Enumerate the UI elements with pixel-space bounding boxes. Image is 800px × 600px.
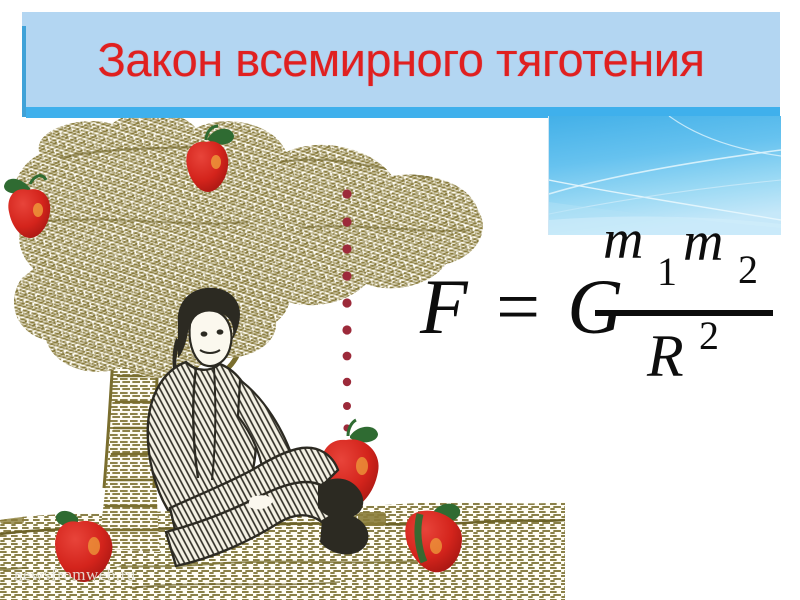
slide-canvas: Закон всемирного тяготения F = G xyxy=(0,0,800,600)
formula-distance-exponent: 2 xyxy=(699,312,719,359)
page-title: Закон всемирного тяготения xyxy=(22,12,780,107)
formula-fraction: m 1 m 2 xyxy=(595,212,780,308)
formula-mass-1-symbol: m xyxy=(603,212,643,268)
formula-mass-2-symbol: m xyxy=(683,214,723,270)
formula-numerator: m 1 m 2 xyxy=(595,212,780,308)
formula-denominator: R 2 xyxy=(595,316,780,406)
tree-lower-canopy xyxy=(0,258,300,388)
formula-mass-1-index: 1 xyxy=(657,252,677,292)
newton-apple-tree-graphic xyxy=(0,118,565,600)
formula-mass-2-index: 2 xyxy=(738,250,758,290)
watermark-text: newsfromweb.ru xyxy=(14,565,136,585)
formula-distance-symbol: R xyxy=(647,322,684,391)
newton-apple-tree-illustration xyxy=(0,118,565,600)
